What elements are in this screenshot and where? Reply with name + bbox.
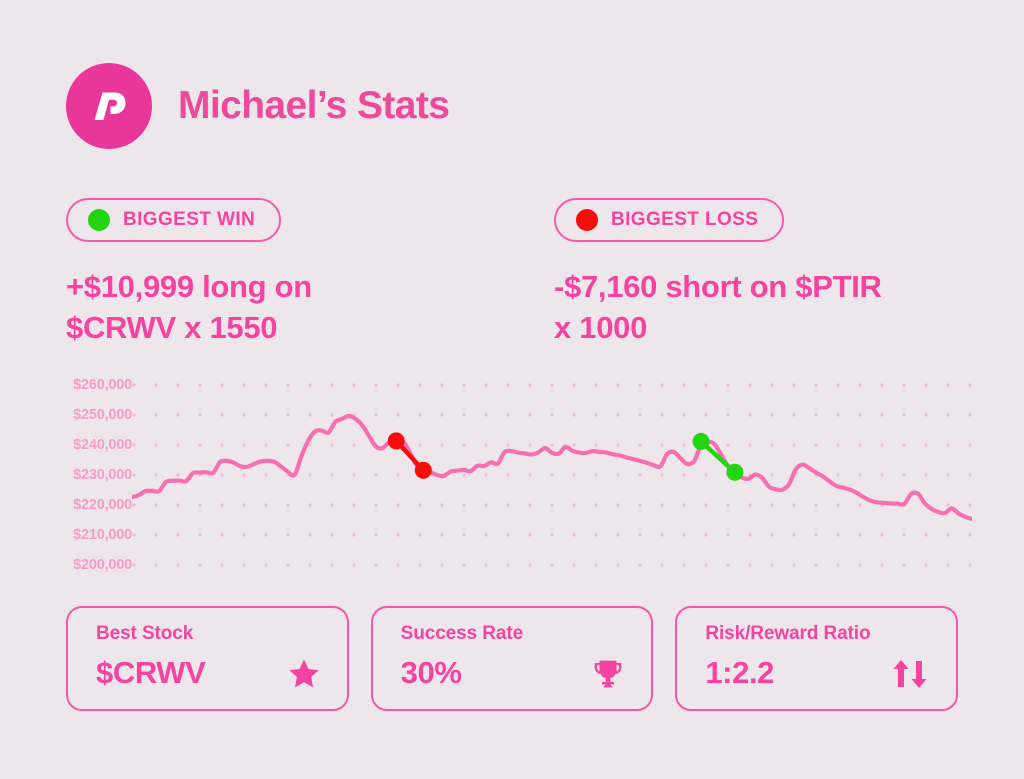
chart-gridlines: [132, 383, 971, 566]
biggest-win-pill[interactable]: BIGGEST WIN: [66, 198, 281, 242]
page-title: Michael’s Stats: [178, 84, 449, 128]
biggest-win-label: BIGGEST WIN: [123, 209, 255, 231]
y-tick: $200,000: [73, 557, 132, 573]
trophy-icon: [591, 657, 625, 691]
y-tick: $230,000: [73, 467, 132, 483]
biggest-loss-headline: -$7,160 short on $PTIR x 1000: [554, 267, 884, 349]
y-tick: $210,000: [73, 527, 132, 543]
chart-markers: [388, 432, 744, 480]
y-tick: $250,000: [73, 407, 132, 423]
equity-chart: $260,000 $250,000 $240,000 $230,000 $220…: [0, 370, 1024, 580]
biggest-loss-pill[interactable]: BIGGEST LOSS: [554, 198, 784, 242]
page-header: Michael’s Stats: [66, 63, 449, 149]
biggest-win-block: BIGGEST WIN +$10,999 long on $CRWV x 155…: [66, 198, 554, 349]
biggest-win-headline: +$10,999 long on $CRWV x 1550: [66, 267, 396, 349]
card-label: Risk/Reward Ratio: [705, 623, 934, 645]
chart-plot-area: [132, 370, 972, 570]
up-down-arrows-icon: [890, 657, 930, 691]
highlights-section: BIGGEST WIN +$10,999 long on $CRWV x 155…: [66, 198, 966, 349]
y-tick: $260,000: [73, 377, 132, 393]
card-success-rate[interactable]: Success Rate 30%: [371, 606, 654, 711]
green-dot-icon: [88, 209, 110, 231]
p-logo-icon: [66, 63, 152, 149]
card-risk-reward[interactable]: Risk/Reward Ratio 1:2.2: [675, 606, 958, 711]
star-icon: [287, 657, 321, 691]
chart-y-axis: $260,000 $250,000 $240,000 $230,000 $220…: [40, 370, 132, 570]
y-tick: $220,000: [73, 497, 132, 513]
red-dot-icon: [576, 209, 598, 231]
card-label: Success Rate: [401, 623, 630, 645]
stat-cards: Best Stock $CRWV Success Rate 30% Risk/R…: [66, 606, 958, 711]
card-label: Best Stock: [96, 623, 325, 645]
biggest-loss-block: BIGGEST LOSS -$7,160 short on $PTIR x 10…: [554, 198, 884, 349]
biggest-loss-label: BIGGEST LOSS: [611, 209, 758, 231]
card-best-stock[interactable]: Best Stock $CRWV: [66, 606, 349, 711]
y-tick: $240,000: [73, 437, 132, 453]
